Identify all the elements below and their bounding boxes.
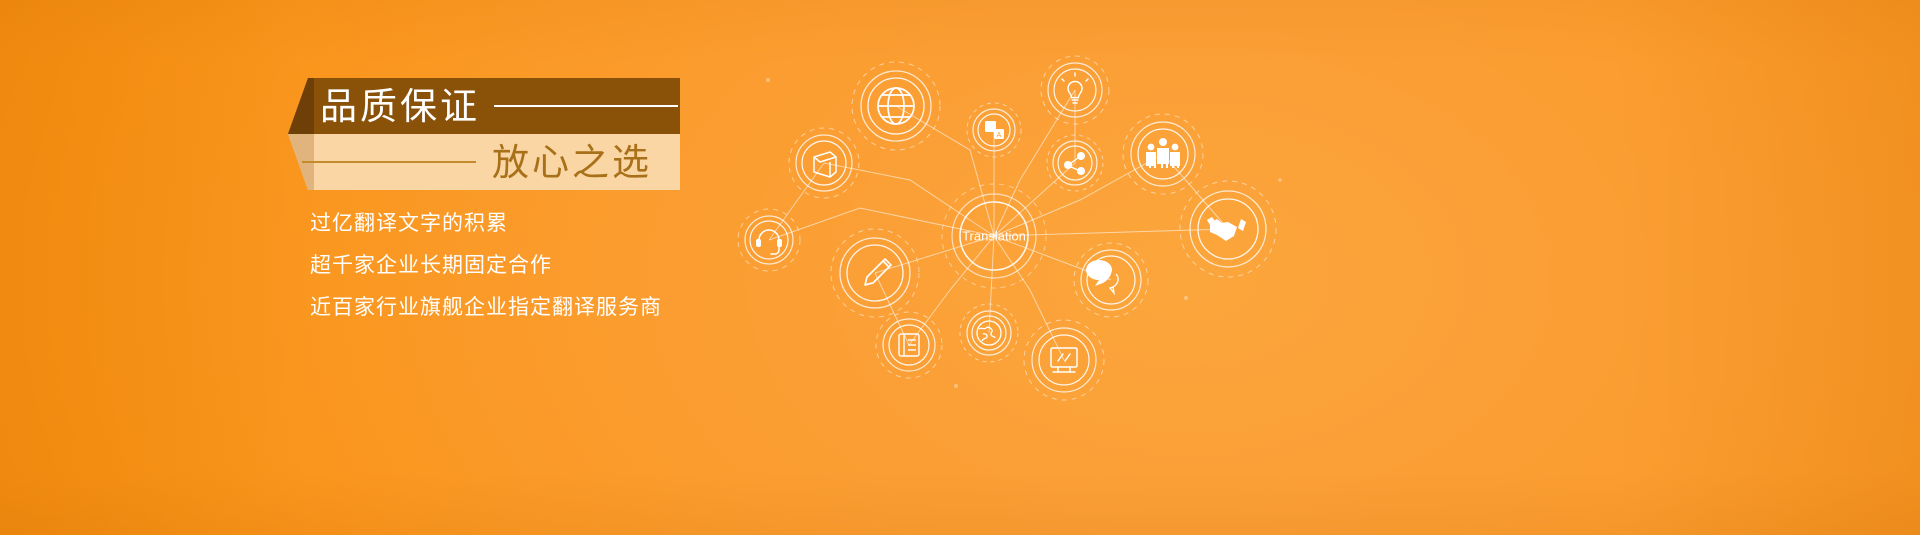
node-handshake — [1180, 181, 1276, 277]
node-people — [1123, 114, 1203, 194]
node-notebook — [876, 312, 942, 378]
headline-rule-bottom — [302, 161, 476, 163]
headline-row-secondary: 放心之选 — [288, 134, 680, 190]
promo-banner: 品质保证 放心之选 过亿翻译文字的积累 超千家企业长期固定合作 近百家行业旗舰企… — [0, 0, 1920, 535]
network-svg: Translation — [720, 30, 1340, 430]
people-icon — [1146, 138, 1180, 168]
translate-icon: A — [985, 121, 1004, 139]
feature-item-1: 过亿翻译文字的积累 — [310, 210, 662, 236]
center-label: Translation — [962, 229, 1026, 244]
headline-primary-text: 品质保证 — [320, 88, 480, 125]
feature-item-3: 近百家行业旗舰企业指定翻译服务商 — [310, 294, 662, 320]
headline-row-primary: 品质保证 — [288, 78, 680, 134]
feature-list: 过亿翻译文字的积累 超千家企业长期固定合作 近百家行业旗舰企业指定翻译服务商 — [310, 210, 662, 320]
translation-network-graphic: Translation — [720, 30, 1340, 430]
headset-icon — [756, 230, 782, 254]
svg-text:A: A — [997, 132, 1002, 139]
headline-plaque: 品质保证 放心之选 — [288, 78, 680, 190]
headline-secondary-text: 放心之选 — [492, 144, 652, 181]
chat-icon — [1086, 260, 1118, 293]
handshake-icon — [1207, 217, 1246, 241]
feature-item-2: 超千家企业长期固定合作 — [310, 252, 662, 278]
globe-icon — [878, 88, 914, 124]
notebook-icon — [899, 334, 919, 356]
headline-rule-top — [494, 105, 678, 107]
node-globe — [852, 62, 940, 150]
